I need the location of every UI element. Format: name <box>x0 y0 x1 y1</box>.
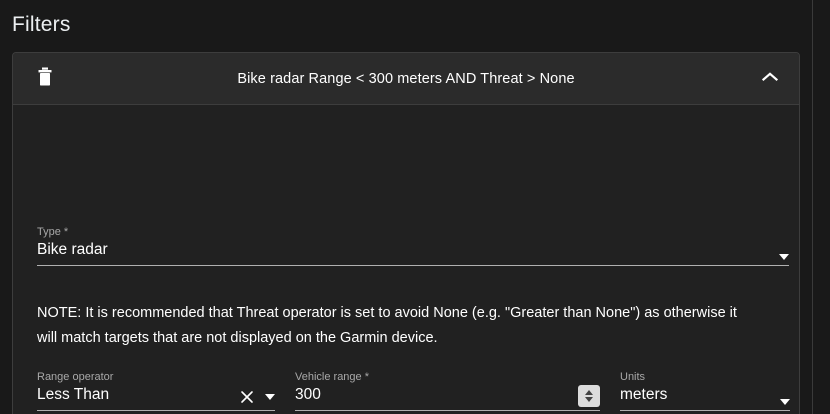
collapse-toggle-button[interactable] <box>755 64 785 94</box>
delete-filter-button[interactable] <box>29 63 61 95</box>
vehicle-range-underline <box>295 410 600 411</box>
range-operator-field[interactable]: Range operator Less Than <box>37 370 275 411</box>
type-field-label: Type * <box>37 225 789 239</box>
vehicle-range-label: Vehicle range * <box>295 370 600 384</box>
filter-card-header[interactable]: Bike radar Range < 300 meters AND Threat… <box>13 53 799 105</box>
vehicle-range-field[interactable]: Vehicle range * 300 <box>295 370 600 411</box>
number-spinner-icon[interactable] <box>578 385 600 407</box>
spinner-up-arrow[interactable] <box>585 390 593 395</box>
units-value: meters <box>620 384 667 406</box>
trash-icon <box>36 67 54 90</box>
units-underline <box>620 410 790 411</box>
filter-card: Bike radar Range < 300 meters AND Threat… <box>12 52 800 414</box>
filter-card-body: Type * Bike radar NOTE: It is recommende… <box>13 105 799 414</box>
type-field[interactable]: Type * Bike radar <box>37 225 789 266</box>
range-operator-underline <box>37 410 275 411</box>
filter-summary-title: Bike radar Range < 300 meters AND Threat… <box>13 71 799 87</box>
chevron-up-icon <box>761 71 779 86</box>
vehicle-range-value[interactable]: 300 <box>295 384 321 406</box>
units-field[interactable]: Units meters <box>620 370 790 411</box>
type-field-underline <box>37 265 789 266</box>
clear-x-icon[interactable] <box>239 389 255 405</box>
units-label: Units <box>620 370 790 384</box>
note-text: NOTE: It is recommended that Threat oper… <box>37 301 757 351</box>
page-title: Filters <box>12 13 71 37</box>
range-operator-label: Range operator <box>37 370 275 384</box>
type-field-value: Bike radar <box>37 239 108 261</box>
caret-down-icon[interactable] <box>265 394 275 400</box>
panel-divider <box>812 0 813 414</box>
caret-down-icon[interactable] <box>780 399 790 405</box>
range-operator-value: Less Than <box>37 384 109 406</box>
caret-down-icon[interactable] <box>779 254 789 260</box>
spinner-down-arrow[interactable] <box>585 397 593 402</box>
